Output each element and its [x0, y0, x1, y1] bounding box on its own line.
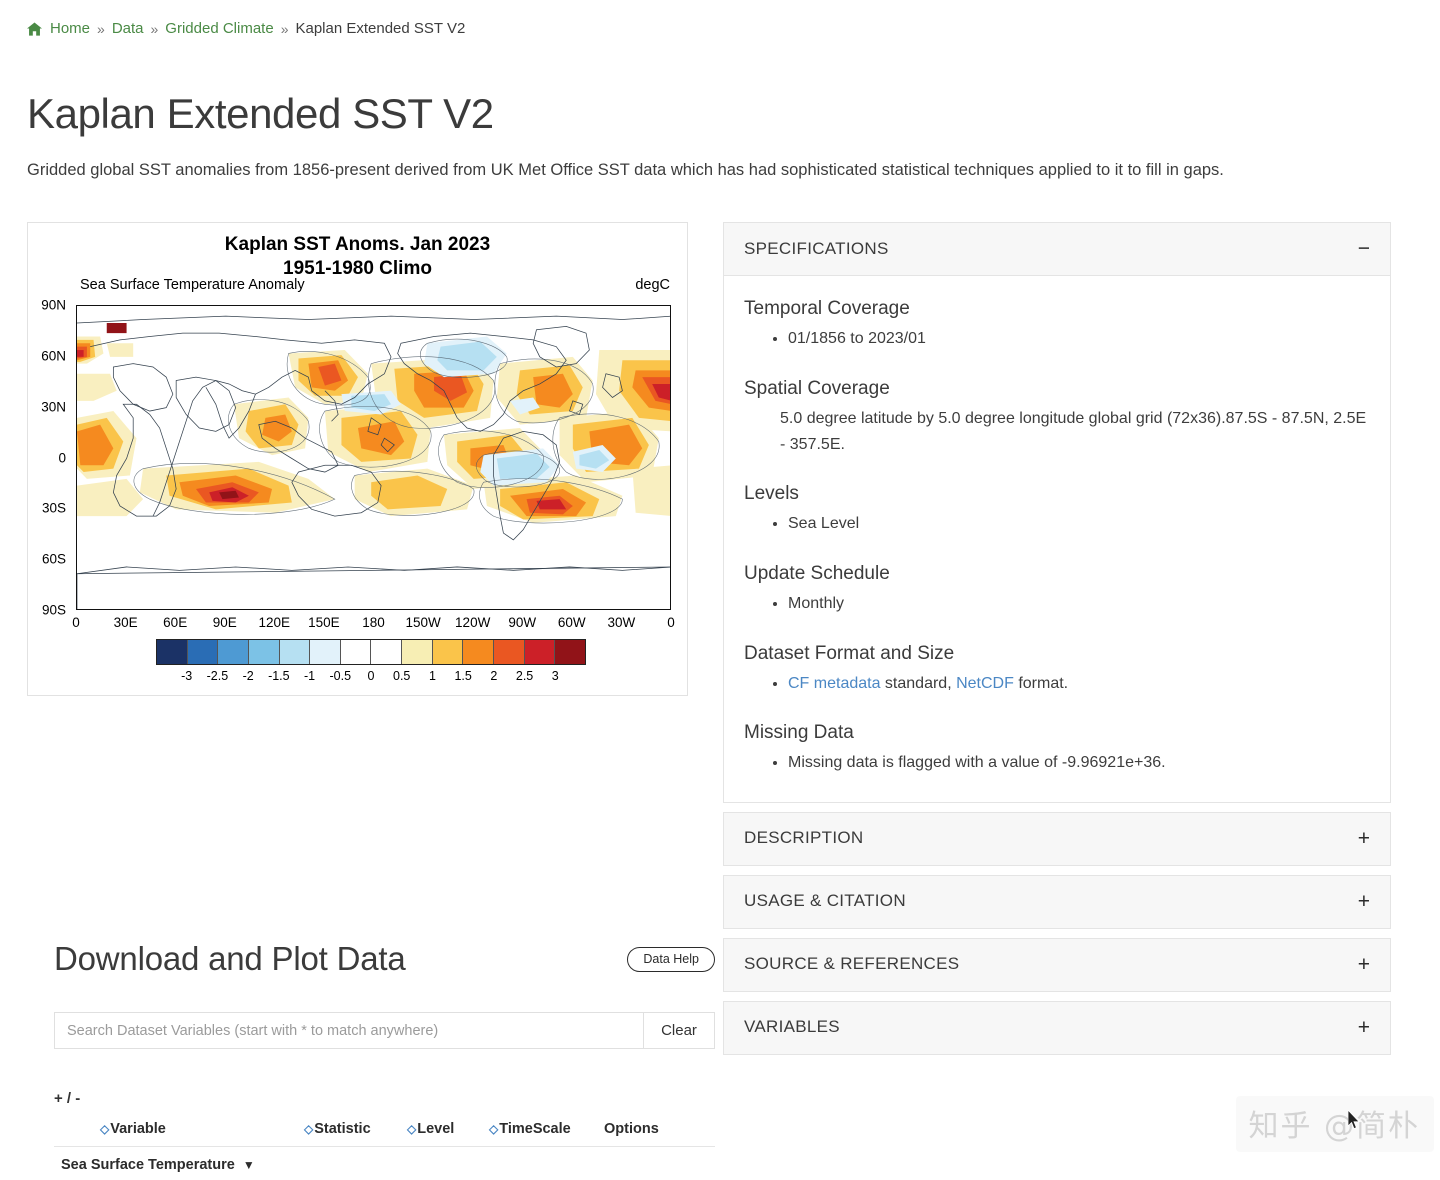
breadcrumb: Home » Data » Gridded Climate » Kaplan E… [27, 20, 465, 37]
colorbar-swatch-0 [157, 640, 187, 664]
map-svg [77, 306, 671, 610]
column-header-variable[interactable]: ◇Variable [54, 1121, 304, 1137]
list-item: Missing data is flagged with a value of … [788, 750, 1368, 776]
colorbar-swatch-8 [401, 640, 432, 664]
colorbar-tick-3: 3 [552, 669, 559, 683]
breadcrumb-item-current: Kaplan Extended SST V2 [295, 20, 465, 37]
expand-plus-icon[interactable]: + [1358, 1017, 1370, 1038]
spec-list-update-schedule: Monthly [744, 591, 1368, 617]
collapse-minus-icon[interactable]: − [1358, 238, 1370, 259]
list-item: Monthly [788, 591, 1368, 617]
table-header-row: ◇Variable ◇Statistic ◇Level ◇TimeScale O… [54, 1115, 715, 1147]
colorbar-tick--2.5: -2.5 [207, 669, 229, 683]
panel-header-description[interactable]: DESCRIPTION + [724, 813, 1390, 865]
column-header-timescale[interactable]: ◇TimeScale [489, 1121, 604, 1137]
panel-header-variables[interactable]: VARIABLES + [724, 1002, 1390, 1054]
panel-title: SPECIFICATIONS [744, 239, 889, 259]
spec-list-levels: Sea Level [744, 511, 1368, 537]
spec-list-temporal-coverage: 01/1856 to 2023/01 [744, 326, 1368, 352]
spec-text-spatial-coverage: 5.0 degree latitude by 5.0 degree longit… [744, 406, 1368, 458]
variable-group-row[interactable]: Sea Surface Temperature ▼ [54, 1147, 715, 1180]
list-item: 01/1856 to 2023/01 [788, 326, 1368, 352]
xtick-360: 0 [667, 615, 675, 630]
page-description: Gridded global SST anomalies from 1856-p… [27, 157, 1367, 184]
map-plot-area [76, 305, 671, 610]
right-column: SPECIFICATIONS − Temporal Coverage 01/18… [723, 222, 1391, 1064]
breadcrumb-item-home[interactable]: Home [50, 20, 90, 37]
breadcrumb-item-data[interactable]: Data [112, 20, 144, 37]
column-header-level[interactable]: ◇Level [407, 1121, 489, 1137]
ytick-90N: 90N [41, 298, 66, 313]
xtick-120E: 120E [259, 615, 291, 630]
colorbar-tick-2.5: 2.5 [516, 669, 533, 683]
panel-body-specifications: Temporal Coverage 01/1856 to 2023/01 Spa… [724, 276, 1390, 802]
panel-header-specifications[interactable]: SPECIFICATIONS − [724, 223, 1390, 276]
colorbar-tick--3: -3 [181, 669, 192, 683]
breadcrumb-item-gridded-climate[interactable]: Gridded Climate [165, 20, 273, 37]
panel-source-references: SOURCE & REFERENCES + [723, 938, 1391, 992]
colorbar-swatch-11 [493, 640, 524, 664]
spec-heading-temporal-coverage: Temporal Coverage [744, 298, 1368, 320]
column-header-statistic[interactable]: ◇Statistic [304, 1121, 407, 1137]
spec-heading-spatial-coverage: Spatial Coverage [744, 378, 1368, 400]
colorbar-tick-labels: -3-2.5-2-1.5-1-0.500.511.522.53 [156, 669, 586, 691]
expand-collapse-toggle[interactable]: + / - [54, 1090, 80, 1107]
map-y-axis-labels: 90N 60N 30N 0 30S 60S 90S [28, 305, 72, 610]
colorbar-tick--1: -1 [304, 669, 315, 683]
sst-anomaly-map-figure: Kaplan SST Anoms. Jan 2023 1951-1980 Cli… [27, 222, 688, 696]
xtick-90W: 90W [508, 615, 536, 630]
mouse-cursor-icon [1348, 1110, 1360, 1130]
map-title-line1: Kaplan SST Anoms. Jan 2023 [28, 233, 687, 257]
breadcrumb-separator: » [150, 21, 160, 37]
spec-list-missing-data: Missing data is flagged with a value of … [744, 750, 1368, 776]
colorbar-tick-1.5: 1.5 [454, 669, 471, 683]
panel-header-usage-citation[interactable]: USAGE & CITATION + [724, 876, 1390, 928]
colorbar-swatch-4 [279, 640, 310, 664]
search-input[interactable] [54, 1012, 643, 1049]
colorbar-swatch-1 [187, 640, 218, 664]
panel-specifications: SPECIFICATIONS − Temporal Coverage 01/18… [723, 222, 1391, 803]
colorbar-swatches [156, 639, 586, 665]
watermark: 知乎 @简朴 [1236, 1096, 1434, 1152]
page-title: Kaplan Extended SST V2 [27, 90, 494, 138]
variable-group-label: Sea Surface Temperature [61, 1157, 235, 1173]
panel-title: VARIABLES [744, 1017, 840, 1037]
colorbar-tick--2: -2 [243, 669, 254, 683]
colorbar-tick--1.5: -1.5 [268, 669, 290, 683]
download-section-title: Download and Plot Data [54, 940, 406, 978]
colorbar-swatch-9 [432, 640, 463, 664]
sort-icon[interactable]: ◇ [489, 1122, 498, 1136]
cf-metadata-link[interactable]: CF metadata [788, 675, 880, 692]
download-section-header: Download and Plot Data Data Help [54, 940, 715, 978]
spec-list-dataset-format: CF metadata standard, NetCDF format. [744, 671, 1368, 697]
panel-header-source-references[interactable]: SOURCE & REFERENCES + [724, 939, 1390, 991]
left-column: Kaplan SST Anoms. Jan 2023 1951-1980 Cli… [27, 222, 688, 696]
clear-button[interactable]: Clear [643, 1012, 715, 1049]
colorbar-swatch-10 [462, 640, 493, 664]
spec-heading-levels: Levels [744, 483, 1368, 505]
colorbar-tick--0.5: -0.5 [330, 669, 352, 683]
colorbar-tick-1: 1 [429, 669, 436, 683]
xtick-120W: 120W [455, 615, 490, 630]
list-item: CF metadata standard, NetCDF format. [788, 671, 1368, 697]
ytick-30S: 30S [42, 501, 66, 516]
xtick-60E: 60E [163, 615, 187, 630]
colorbar-swatch-5 [309, 640, 340, 664]
panel-usage-citation: USAGE & CITATION + [723, 875, 1391, 929]
xtick-0: 0 [72, 615, 80, 630]
variable-search-row: Clear [54, 1012, 715, 1049]
colorbar-swatch-6 [340, 640, 371, 664]
colorbar-tick-0: 0 [368, 669, 375, 683]
page-root: Home » Data » Gridded Climate » Kaplan E… [0, 0, 1440, 1180]
colorbar-swatch-2 [217, 640, 248, 664]
ytick-30N: 30N [41, 399, 66, 414]
ytick-60S: 60S [42, 552, 66, 567]
panel-title: SOURCE & REFERENCES [744, 954, 959, 974]
chevron-down-icon[interactable]: ▼ [243, 1158, 255, 1172]
sort-icon[interactable]: ◇ [407, 1122, 416, 1136]
colorbar-tick-2: 2 [490, 669, 497, 683]
variables-table: ◇Variable ◇Statistic ◇Level ◇TimeScale O… [54, 1115, 715, 1180]
data-help-button[interactable]: Data Help [627, 947, 715, 972]
colorbar-swatch-13 [554, 640, 585, 664]
xtick-180: 180 [362, 615, 385, 630]
colorbar-swatch-7 [370, 640, 401, 664]
map-variable-label: Sea Surface Temperature Anomaly [80, 277, 305, 293]
panel-title: USAGE & CITATION [744, 891, 906, 911]
sort-icon[interactable]: ◇ [304, 1122, 313, 1136]
netcdf-link[interactable]: NetCDF [956, 675, 1014, 692]
xtick-150E: 150E [308, 615, 340, 630]
map-title: Kaplan SST Anoms. Jan 2023 1951-1980 Cli… [28, 233, 687, 282]
panel-title: DESCRIPTION [744, 828, 863, 848]
column-header-options: Options [604, 1121, 669, 1137]
list-item: Sea Level [788, 511, 1368, 537]
xtick-60W: 60W [558, 615, 586, 630]
colorbar-tick-0.5: 0.5 [393, 669, 410, 683]
xtick-30W: 30W [608, 615, 636, 630]
spec-heading-update-schedule: Update Schedule [744, 563, 1368, 585]
ytick-0: 0 [58, 450, 66, 465]
expand-plus-icon[interactable]: + [1358, 954, 1370, 975]
expand-plus-icon[interactable]: + [1358, 828, 1370, 849]
spec-heading-missing-data: Missing Data [744, 722, 1368, 744]
xtick-150W: 150W [405, 615, 440, 630]
map-colorbar: -3-2.5-2-1.5-1-0.500.511.522.53 [156, 639, 586, 691]
breadcrumb-separator: » [96, 21, 106, 37]
map-units-label: degC [635, 277, 670, 293]
sort-icon[interactable]: ◇ [100, 1122, 109, 1136]
xtick-90E: 90E [213, 615, 237, 630]
ytick-90S: 90S [42, 603, 66, 618]
breadcrumb-separator: » [280, 21, 290, 37]
colorbar-swatch-3 [248, 640, 279, 664]
home-icon [27, 22, 42, 36]
spec-heading-dataset-format: Dataset Format and Size [744, 643, 1368, 665]
colorbar-swatch-12 [524, 640, 555, 664]
ytick-60N: 60N [41, 348, 66, 363]
panel-description: DESCRIPTION + [723, 812, 1391, 866]
expand-plus-icon[interactable]: + [1358, 891, 1370, 912]
panel-variables: VARIABLES + [723, 1001, 1391, 1055]
xtick-30E: 30E [114, 615, 138, 630]
